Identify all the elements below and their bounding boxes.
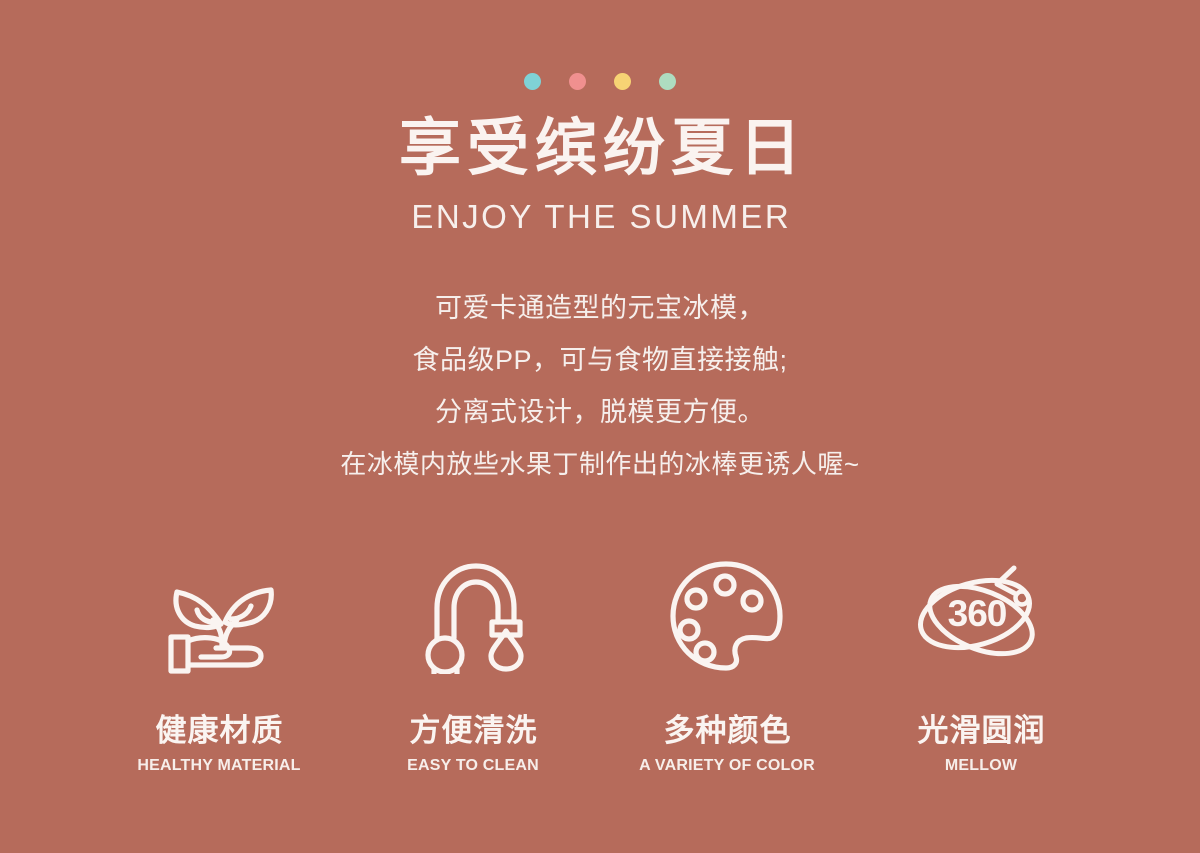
feature-label-cn: 光滑圆润 [917,713,1046,749]
dot-green-icon [659,73,676,90]
dot-cyan-icon [524,73,541,90]
feature-label-en: MELLOW [945,756,1017,776]
feature-item-healthy-material: 健康材质 HEALTHY MATERIAL [92,556,346,776]
svg-text:360: 360 [948,593,1007,634]
hand-plant-icon [153,556,285,676]
faucet-drop-icon [414,556,532,676]
feature-label-en: EASY TO CLEAN [407,756,539,776]
description-line: 在冰模内放些水果丁制作出的冰棒更诱人喔~ [0,448,1200,481]
rotate-360-icon: 360 [909,556,1053,676]
dot-pink-icon [569,73,586,90]
heading-block: 享受缤纷夏日 ENJOY THE SUMMER [0,112,1200,238]
description-line: 食品级PP，可与食物直接接触; [0,344,1200,377]
page-title-cn: 享受缤纷夏日 [0,112,1200,186]
feature-label-en: A VARIETY OF COLOR [639,756,815,776]
feature-list: 健康材质 HEALTHY MATERIAL [92,556,1108,776]
description-line: 分离式设计，脱模更方便。 [0,396,1200,429]
decorative-dot-row [0,73,1200,90]
paint-palette-icon [666,556,788,676]
feature-item-variety-of-color: 多种颜色 A VARIETY OF COLOR [600,556,854,776]
feature-label-cn: 多种颜色 [663,713,792,749]
feature-item-easy-to-clean: 方便清洗 EASY TO CLEAN [346,556,600,776]
feature-label-cn: 健康材质 [155,713,284,749]
feature-item-mellow: 360 光滑圆润 MELLOW [854,556,1108,776]
description-block: 可爱卡通造型的元宝冰模， 食品级PP，可与食物直接接触; 分离式设计，脱模更方便… [0,292,1200,481]
feature-label-cn: 方便清洗 [409,713,538,749]
promo-poster: 享受缤纷夏日 ENJOY THE SUMMER 可爱卡通造型的元宝冰模， 食品级… [0,0,1200,853]
feature-label-en: HEALTHY MATERIAL [137,756,300,776]
description-line: 可爱卡通造型的元宝冰模， [0,292,1200,325]
dot-yellow-icon [614,73,631,90]
page-title-en: ENJOY THE SUMMER [0,196,1200,238]
